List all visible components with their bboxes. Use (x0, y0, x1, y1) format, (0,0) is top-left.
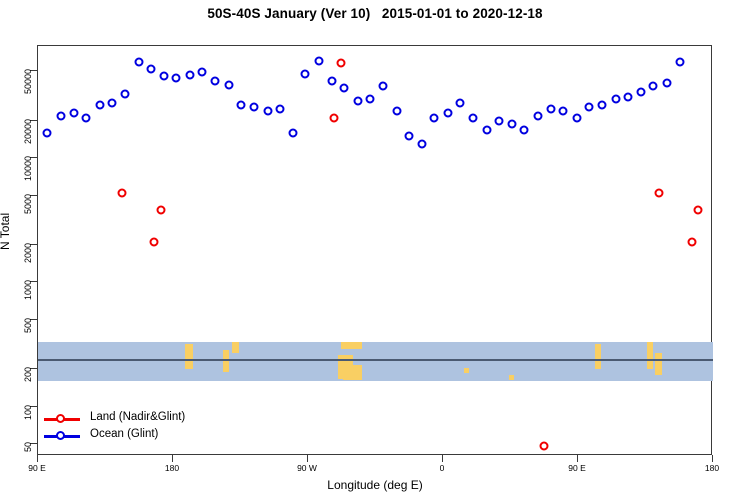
ocean-data-point (584, 102, 593, 111)
land-data-point (329, 114, 338, 123)
x-tick (37, 455, 38, 462)
x-tick (712, 455, 713, 462)
ocean-data-point (289, 128, 298, 137)
x-tick-label: 90 E (28, 463, 46, 473)
y-tick-label: 100 (23, 405, 33, 445)
land-data-point (149, 238, 158, 247)
ocean-data-point (469, 114, 478, 123)
coastline-divider (38, 359, 713, 361)
ocean-data-point (430, 114, 439, 123)
ocean-data-point (224, 80, 233, 89)
ocean-data-point (160, 71, 169, 80)
ocean-data-point (236, 100, 245, 109)
land-data-point (539, 442, 548, 451)
land-data-point (118, 189, 127, 198)
y-tick-label: 5000 (23, 194, 33, 234)
plot-area (37, 45, 712, 455)
ocean-data-point (353, 96, 362, 105)
x-tick-label: 90 W (297, 463, 317, 473)
ocean-data-point (455, 98, 464, 107)
x-axis-label: Longitude (deg E) (0, 478, 750, 492)
ocean-data-point (340, 83, 349, 92)
x-tick (307, 455, 308, 462)
y-tick-label: 20000 (23, 119, 33, 159)
ocean-data-point (250, 102, 259, 111)
ocean-data-point (172, 74, 181, 83)
ocean-data-point (146, 65, 155, 74)
ocean-band (38, 342, 713, 381)
plot-canvas (38, 46, 713, 456)
land-data-point (694, 206, 703, 215)
ocean-data-point (649, 82, 658, 91)
land-patch (655, 353, 663, 375)
ocean-data-point (82, 114, 91, 123)
ocean-data-point (611, 94, 620, 103)
ocean-data-point (107, 98, 116, 107)
ocean-data-point (43, 128, 52, 137)
ocean-data-point (121, 89, 130, 98)
ocean-data-point (185, 70, 194, 79)
land-patch (185, 344, 193, 369)
ocean-data-point (211, 76, 220, 85)
legend-label: Land (Nadir&Glint) (90, 411, 185, 423)
ocean-data-point (70, 109, 79, 118)
ocean-data-point (494, 116, 503, 125)
ocean-data-point (328, 76, 337, 85)
ocean-data-point (559, 106, 568, 115)
land-patch (647, 342, 653, 369)
ocean-data-point (520, 125, 529, 134)
ocean-data-point (547, 104, 556, 113)
x-tick-label: 180 (705, 463, 719, 473)
ocean-data-point (572, 114, 581, 123)
land-patch (343, 365, 363, 379)
ocean-data-point (508, 119, 517, 128)
land-patch (509, 375, 514, 380)
ocean-data-point (197, 68, 206, 77)
chart-title: 50S-40S January (Ver 10) 2015-01-01 to 2… (0, 6, 750, 21)
ocean-data-point (533, 111, 542, 120)
chart-root: 50S-40S January (Ver 10) 2015-01-01 to 2… (0, 0, 750, 500)
land-patch (341, 342, 362, 349)
land-data-point (157, 206, 166, 215)
legend-item: Ocean (Glint) (42, 427, 252, 444)
ocean-data-point (95, 100, 104, 109)
ocean-data-point (662, 79, 671, 88)
land-data-point (337, 59, 346, 68)
ocean-data-point (418, 140, 427, 149)
legend-item: Land (Nadir&Glint) (42, 410, 252, 427)
ocean-data-point (275, 104, 284, 113)
land-data-point (688, 238, 697, 247)
y-tick-label: 50000 (23, 69, 33, 109)
y-tick-label: 2000 (23, 243, 33, 283)
legend: Land (Nadir&Glint)Ocean (Glint) (42, 410, 252, 450)
ocean-data-point (314, 56, 323, 65)
legend-marker-icon (56, 414, 65, 423)
ocean-data-point (365, 94, 374, 103)
x-tick (172, 455, 173, 462)
land-data-point (655, 189, 664, 198)
x-tick-label: 90 E (568, 463, 586, 473)
y-tick-label: 10000 (23, 156, 33, 196)
ocean-data-point (482, 125, 491, 134)
ocean-data-point (598, 100, 607, 109)
land-patch (595, 344, 601, 369)
x-tick (442, 455, 443, 462)
x-tick-label: 180 (165, 463, 179, 473)
legend-label: Ocean (Glint) (90, 428, 158, 440)
ocean-data-point (301, 69, 310, 78)
y-tick-label: 50 (23, 442, 33, 482)
y-tick-label: 500 (23, 318, 33, 358)
legend-marker-icon (56, 431, 65, 440)
x-tick (577, 455, 578, 462)
land-patch (232, 342, 240, 353)
y-tick-label: 1000 (23, 280, 33, 320)
y-tick-label: 200 (23, 367, 33, 407)
ocean-data-point (56, 111, 65, 120)
ocean-data-point (623, 93, 632, 102)
ocean-data-point (443, 109, 452, 118)
ocean-data-point (404, 132, 413, 141)
ocean-data-point (379, 82, 388, 91)
ocean-data-point (392, 106, 401, 115)
ocean-data-point (637, 88, 646, 97)
ocean-data-point (263, 106, 272, 115)
ocean-data-point (676, 58, 685, 67)
ocean-data-point (134, 57, 143, 66)
y-axis-label: N Total (0, 213, 12, 250)
x-tick-label: 0 (440, 463, 445, 473)
land-patch (464, 368, 469, 374)
